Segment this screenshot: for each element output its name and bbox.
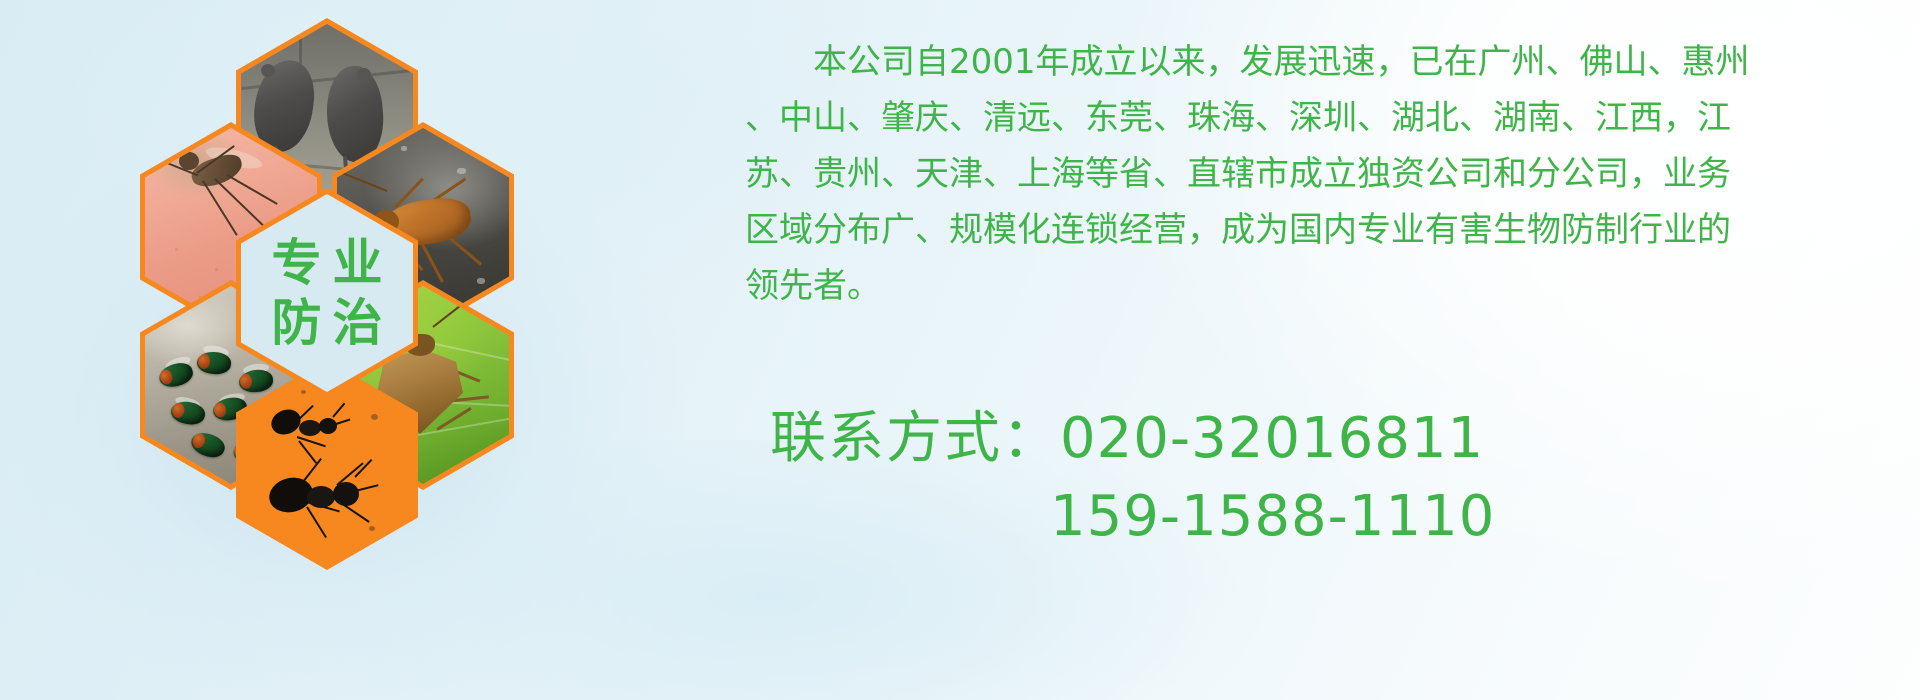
contact-secondary-row: 159-1588-1110	[770, 478, 1495, 556]
phone-secondary[interactable]: 159-1588-1110	[1050, 484, 1495, 549]
company-intro-paragraph: 本公司自2001年成立以来，发展迅速，已在广州、佛山、惠州 、中山、肇庆、清远、…	[745, 34, 1863, 314]
honeycomb-image-cluster: 专业 防治	[92, 10, 592, 570]
intro-line-2: 、中山、肇庆、清远、东莞、珠海、深圳、湖北、湖南、江西，江	[745, 90, 1863, 146]
phone-primary[interactable]: 020-32016811	[1060, 406, 1484, 471]
intro-line-4: 区域分布广、规模化连锁经营，成为国内专业有害生物防制行业的	[745, 202, 1863, 258]
contact-block: 联系方式：020-32016811 159-1588-1110	[770, 400, 1495, 556]
contact-primary-row: 联系方式：020-32016811	[770, 400, 1495, 478]
intro-line-1: 本公司自2001年成立以来，发展迅速，已在广州、佛山、惠州	[745, 34, 1863, 90]
intro-copy-block: 本公司自2001年成立以来，发展迅速，已在广州、佛山、惠州 、中山、肇庆、清远、…	[745, 34, 1863, 314]
promo-banner: 专业 防治 本公司自2001年成立以来，发展迅速，已在广州、佛山、惠州 、中山、…	[0, 0, 1920, 700]
hex-title-line-1: 专业	[261, 233, 394, 293]
intro-line-3: 苏、贵州、天津、上海等省、直辖市成立独资公司和分公司，业务	[745, 146, 1863, 202]
hex-title-line-2: 防治	[261, 293, 394, 353]
intro-line-5: 领先者。	[745, 258, 1863, 314]
contact-label: 联系方式：	[770, 406, 1060, 471]
hex-title-surface: 专业 防治	[241, 194, 413, 392]
